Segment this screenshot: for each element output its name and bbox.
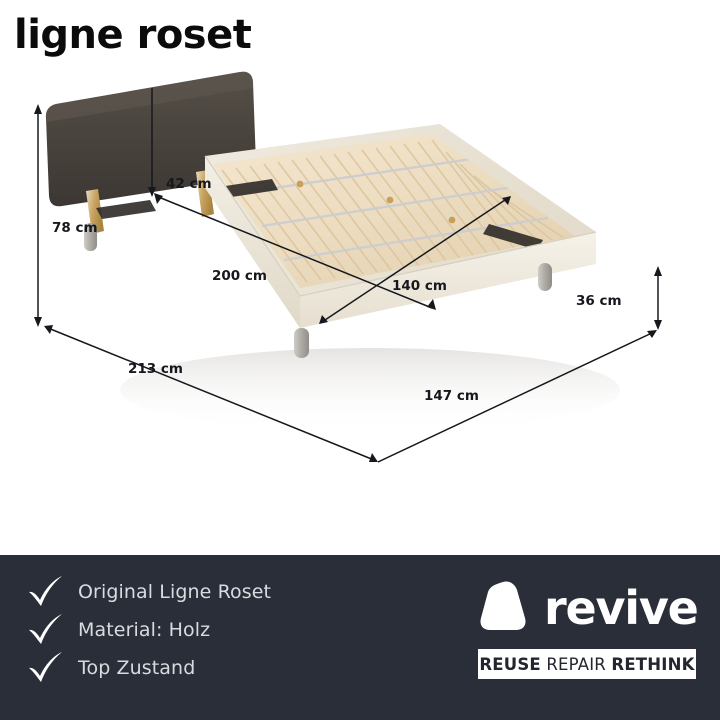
list-item: Top Zustand	[26, 649, 426, 687]
dimension-label-total-height: 78 cm	[52, 220, 98, 236]
list-item-label: Material: Holz	[66, 619, 210, 641]
dimension-label-total-width: 147 cm	[424, 388, 479, 404]
check-icon	[26, 613, 66, 647]
feature-list: Original Ligne Roset Material: Holz Top …	[26, 573, 426, 687]
dimension-label-headboard-height: 42 cm	[166, 176, 212, 192]
dimension-label-total-length: 213 cm	[128, 361, 183, 377]
revive-blob-icon	[478, 580, 534, 636]
tagline-word-repair: REPAIR	[546, 655, 606, 674]
revive-tagline-bar: REUSE REPAIR RETHINK	[478, 649, 696, 679]
list-item-label: Top Zustand	[66, 657, 195, 679]
list-item: Material: Holz	[26, 611, 426, 649]
revive-logo: revive REUSE REPAIR RETHINK	[478, 577, 698, 679]
product-image-card: ligne roset	[0, 0, 720, 720]
check-icon	[26, 651, 66, 685]
tagline-word-reuse: REUSE	[479, 655, 541, 674]
revive-tagline: REUSE REPAIR RETHINK	[479, 655, 694, 674]
revive-wordmark: revive	[534, 584, 698, 632]
dimension-label-frame-height: 36 cm	[576, 293, 622, 309]
brand-logo-ligne-roset: ligne roset	[14, 12, 251, 58]
list-item: Original Ligne Roset	[26, 573, 426, 611]
list-item-label: Original Ligne Roset	[66, 581, 271, 603]
dimension-label-mattress-width: 140 cm	[392, 278, 447, 294]
tagline-word-rethink: RETHINK	[611, 655, 694, 674]
footer-bar: Original Ligne Roset Material: Holz Top …	[0, 555, 720, 720]
check-icon	[26, 575, 66, 609]
dimension-label-mattress-length: 200 cm	[212, 268, 267, 284]
product-illustration: 78 cm 42 cm 200 cm 140 cm 36 cm 213 cm 1…	[0, 60, 720, 555]
